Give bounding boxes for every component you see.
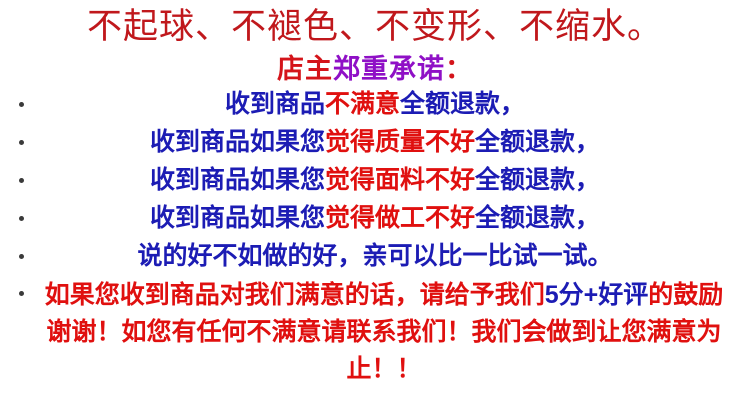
headline: 不起球、不褪色、不变形、不缩水。 bbox=[0, 0, 750, 46]
promise-item: 收到商品不满意全额退款， bbox=[0, 85, 750, 123]
promise-list: 收到商品不满意全额退款，收到商品如果您觉得质量不好全额退款，收到商品如果您觉得面… bbox=[0, 85, 750, 275]
bullet-icon bbox=[19, 216, 24, 221]
promise-segment: 收到商品如果您 bbox=[150, 204, 325, 232]
subheadline-pledge: 郑重承诺 bbox=[333, 54, 445, 84]
promise-segment: 收到商品如果您 bbox=[150, 166, 325, 194]
closing-segment: 5分+好评 bbox=[545, 281, 649, 309]
bullet-icon bbox=[19, 178, 24, 183]
promo-page: 不起球、不褪色、不变形、不缩水。 店主郑重承诺： 收到商品不满意全额退款，收到商… bbox=[0, 0, 750, 420]
promise-segment: 全额退款， bbox=[475, 204, 600, 232]
promise-segment: 全额退款， bbox=[475, 128, 600, 156]
promise-item: 收到商品如果您觉得质量不好全额退款， bbox=[0, 123, 750, 161]
promise-segment: 不满意 bbox=[325, 90, 400, 118]
bullet-icon bbox=[19, 291, 24, 296]
closing-paragraph: 如果您收到商品对我们满意的话，请给予我们5分+好评的鼓励谢谢！如您有任何不满意请… bbox=[0, 275, 750, 388]
promise-segment: 觉得做工不好 bbox=[325, 204, 475, 232]
promise-segment: 收到商品如果您 bbox=[150, 128, 325, 156]
promise-segment: 觉得质量不好 bbox=[325, 128, 475, 156]
promise-segment: 觉得面料不好 bbox=[325, 166, 475, 194]
promise-segment: 收到商品 bbox=[225, 90, 325, 118]
promise-segment: 全额退款， bbox=[475, 166, 600, 194]
promise-item: 收到商品如果您觉得面料不好全额退款， bbox=[0, 161, 750, 199]
subheadline-colon: ： bbox=[445, 54, 473, 84]
bullet-icon bbox=[19, 102, 24, 107]
bullet-icon bbox=[19, 140, 24, 145]
closing-text: 如果您收到商品对我们满意的话，请给予我们5分+好评的鼓励谢谢！如您有任何不满意请… bbox=[40, 277, 728, 388]
bullet-icon bbox=[19, 254, 24, 259]
promise-segment: 说的好不如做的好，亲可以比一比试一试。 bbox=[137, 242, 612, 270]
closing-segment: 如果您收到商品对我们满意的话，请给予我们 bbox=[45, 281, 545, 309]
promise-segment: 全额退款， bbox=[400, 90, 525, 118]
subheadline: 店主郑重承诺： bbox=[0, 46, 750, 85]
promise-item: 说的好不如做的好，亲可以比一比试一试。 bbox=[0, 237, 750, 275]
promise-item: 收到商品如果您觉得做工不好全额退款， bbox=[0, 199, 750, 237]
subheadline-owner: 店主 bbox=[277, 54, 333, 84]
